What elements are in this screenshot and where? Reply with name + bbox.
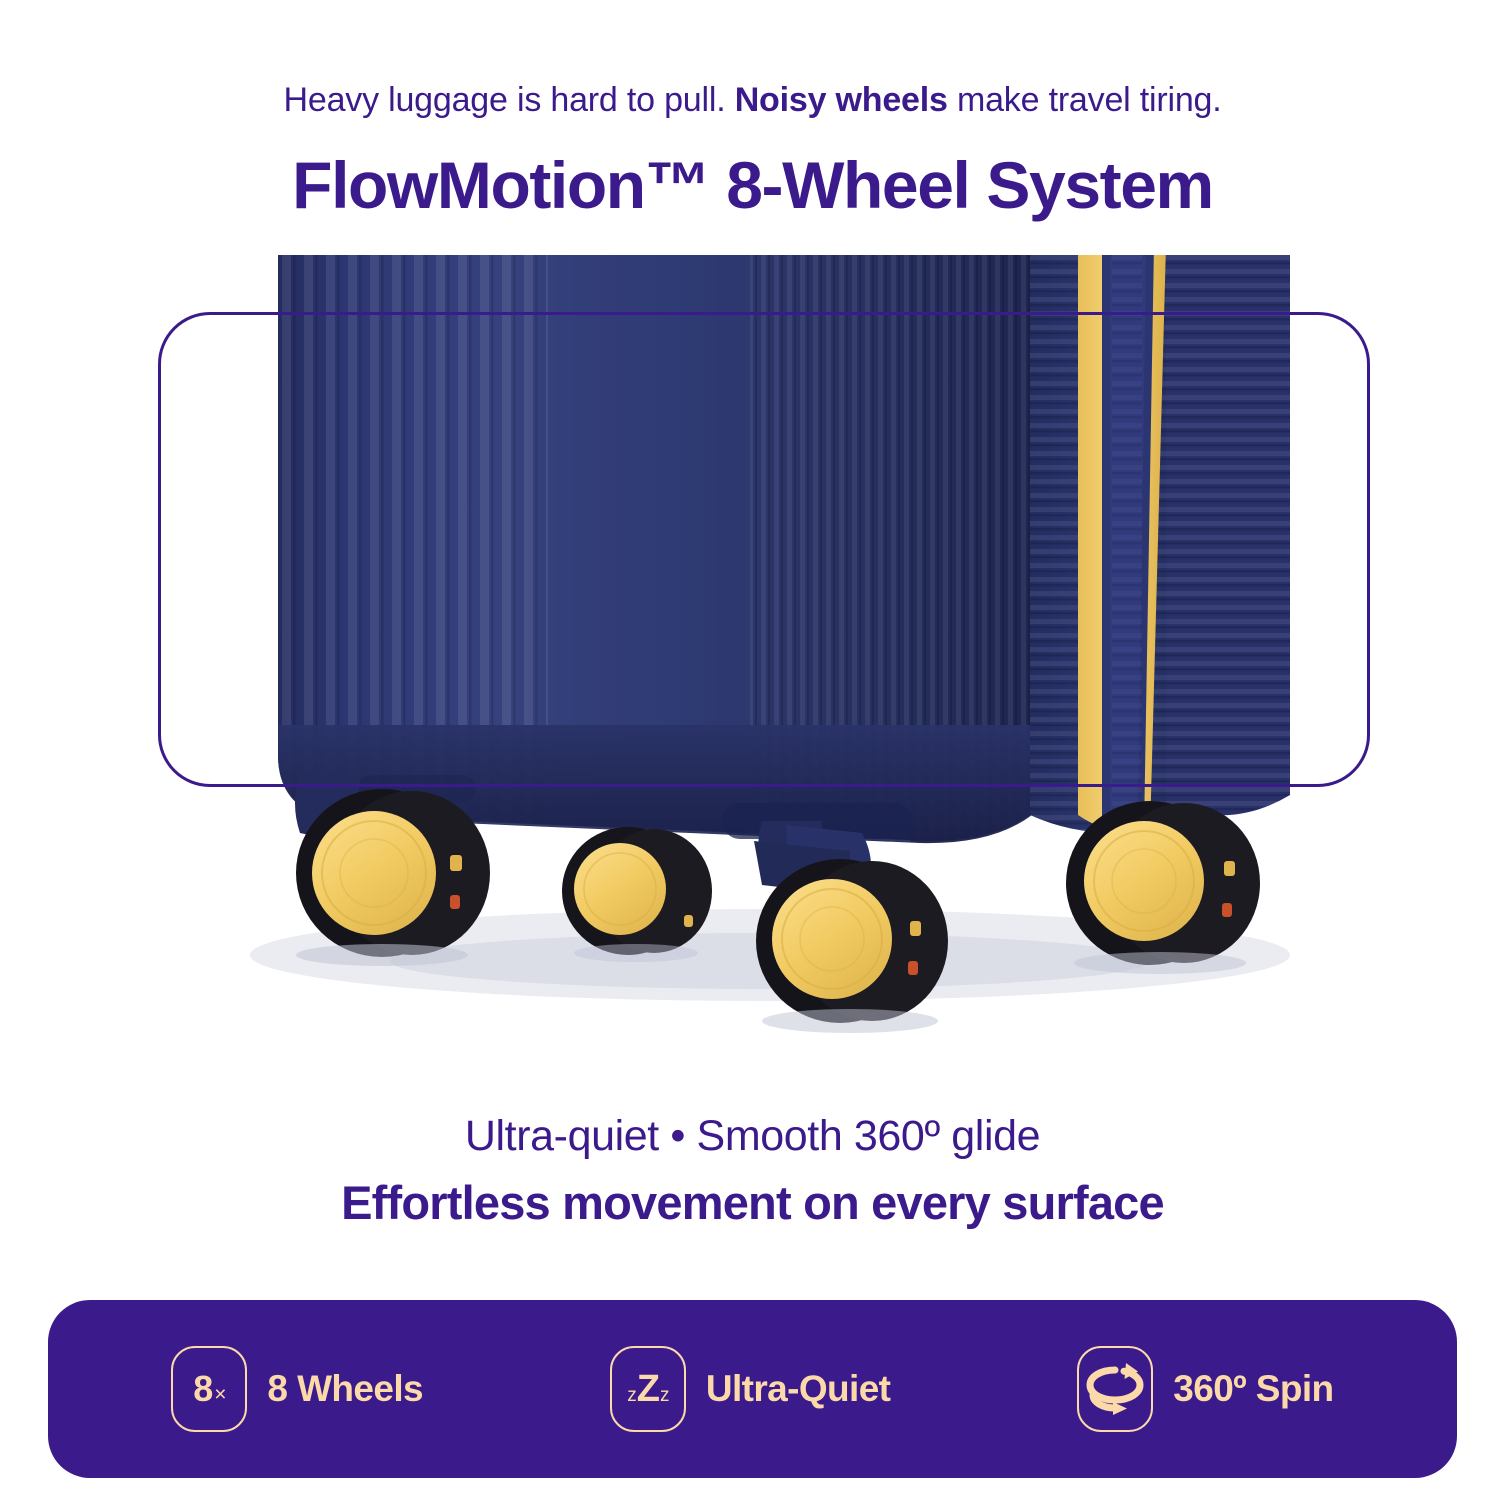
sleep-zzz-icon-left: z xyxy=(627,1386,636,1405)
feature-item-8-wheels[interactable]: 8× 8 Wheels xyxy=(171,1346,423,1432)
eyebrow-prefix: Heavy luggage is hard to pull. xyxy=(284,81,735,119)
feature-label-360-spin: 360º Spin xyxy=(1173,1368,1333,1410)
page-title: FlowMotion™ 8-Wheel System xyxy=(0,142,1505,228)
feature-item-ultra-quiet[interactable]: zZz Ultra-Quiet xyxy=(610,1346,891,1432)
eight-x-icon-sub: × xyxy=(214,1384,225,1405)
rotate-360-icon-label: 360º xyxy=(1103,1378,1128,1392)
feature-label-8-wheels: 8 Wheels xyxy=(267,1368,423,1410)
benefit-line-secondary: Effortless movement on every surface xyxy=(0,1173,1505,1233)
eyebrow-emphasis: Noisy wheels xyxy=(735,81,948,119)
benefit-line-primary: Ultra-quiet • Smooth 360º glide xyxy=(0,1108,1505,1164)
sleep-zzz-icon-right: z xyxy=(660,1386,669,1405)
feature-label-ultra-quiet: Ultra-Quiet xyxy=(706,1368,891,1410)
rotate-360-icon: 360º xyxy=(1077,1346,1153,1432)
eight-x-icon: 8× xyxy=(171,1346,247,1432)
feature-item-360-spin[interactable]: 360º 360º Spin xyxy=(1077,1346,1333,1432)
infographic-canvas: Heavy luggage is hard to pull. Noisy whe… xyxy=(0,0,1505,1505)
eight-x-icon-main: 8 xyxy=(193,1371,212,1407)
eyebrow-text: Heavy luggage is hard to pull. Noisy whe… xyxy=(0,78,1505,122)
photo-frame-outline xyxy=(158,312,1370,787)
sleep-zzz-icon-main: Z xyxy=(637,1370,659,1408)
sleep-zzz-icon: zZz xyxy=(610,1346,686,1432)
eyebrow-suffix: make travel tiring. xyxy=(948,81,1222,119)
feature-bar: 8× 8 Wheels zZz Ultra-Quiet 360º xyxy=(48,1300,1457,1478)
